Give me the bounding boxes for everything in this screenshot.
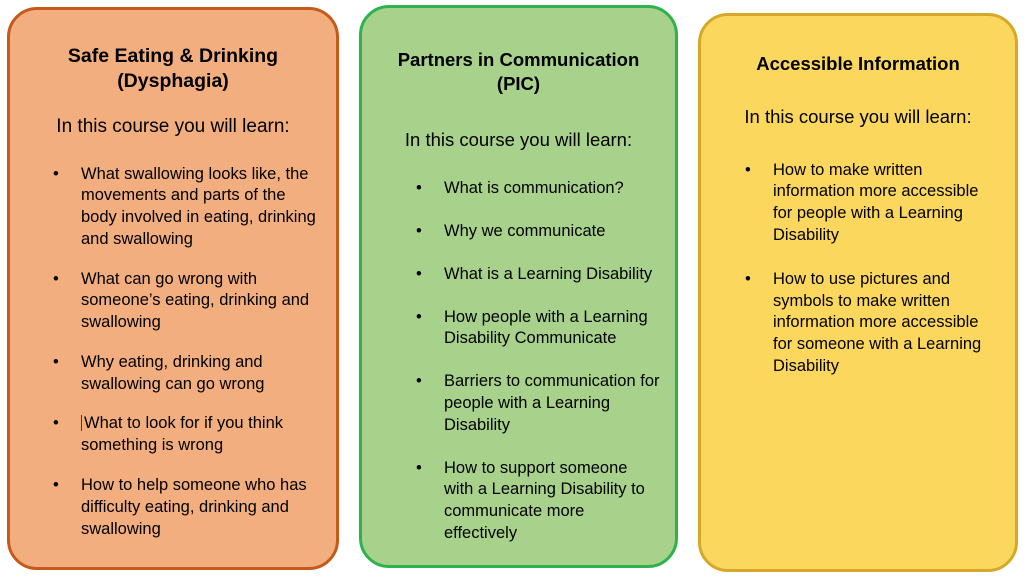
bullet-dot-icon: •: [416, 458, 422, 480]
card-intro-pic: In this course you will learn:: [362, 95, 675, 152]
list-item: • What is communication?: [416, 178, 661, 200]
list-item: • Why we communicate: [416, 221, 661, 243]
list-item-with-caret: • What to look for if you think somethin…: [53, 413, 316, 457]
list-item-text-value: What to look for if you think something …: [81, 414, 283, 454]
list-item-text: How to help someone who has difficulty e…: [81, 475, 316, 540]
card-title-line1: Accessible Information: [756, 53, 960, 74]
bullet-dot-icon: •: [53, 164, 59, 186]
card-bullet-list-pic: • What is communication? • Why we commun…: [362, 152, 675, 544]
list-item-text: What is communication?: [444, 178, 661, 200]
text-cursor-caret: [81, 415, 82, 431]
bullet-dot-icon: •: [416, 178, 422, 200]
list-item: • How people with a Learning Disability …: [416, 307, 661, 351]
bullet-dot-icon: •: [416, 307, 422, 329]
bullet-dot-icon: •: [53, 352, 59, 374]
card-title-line2: (PIC): [497, 73, 540, 94]
list-item: • What can go wrong with someone’s eatin…: [53, 269, 316, 334]
card-title-line2: (Dysphagia): [117, 70, 229, 92]
course-card-dysphagia: Safe Eating & Drinking (Dysphagia) In th…: [7, 7, 339, 570]
card-bullet-list-accessible-information: • How to make written information more a…: [701, 129, 1015, 378]
bullet-dot-icon: •: [745, 160, 751, 182]
bullet-dot-icon: •: [53, 269, 59, 291]
course-card-accessible-information: Accessible Information In this course yo…: [698, 13, 1018, 572]
list-item-text: What swallowing looks like, the movement…: [81, 164, 316, 251]
list-item-text: How people with a Learning Disability Co…: [444, 307, 661, 351]
card-title-line1: Safe Eating & Drinking: [68, 45, 278, 67]
list-item-text: How to use pictures and symbols to make …: [773, 269, 993, 378]
list-item: • How to use pictures and symbols to mak…: [745, 269, 993, 378]
list-item-text: What can go wrong with someone’s eating,…: [81, 269, 316, 334]
card-bullet-list-dysphagia: • What swallowing looks like, the moveme…: [10, 140, 336, 541]
card-title-line1: Partners in Communication: [398, 49, 640, 70]
bullet-dot-icon: •: [416, 264, 422, 286]
card-title-pic: Partners in Communication (PIC): [362, 8, 675, 95]
bullet-dot-icon: •: [745, 269, 751, 291]
list-item: • Barriers to communication for people w…: [416, 371, 661, 436]
list-item-text: What is a Learning Disability: [444, 264, 661, 286]
bullet-dot-icon: •: [53, 475, 59, 497]
list-item-text: Why we communicate: [444, 221, 661, 243]
card-title-accessible-information: Accessible Information: [701, 16, 1015, 76]
list-item: • Why eating, drinking and swallowing ca…: [53, 352, 316, 396]
course-cards-board: Safe Eating & Drinking (Dysphagia) In th…: [0, 0, 1024, 583]
list-item: • What swallowing looks like, the moveme…: [53, 164, 316, 251]
list-item: • How to make written information more a…: [745, 160, 993, 247]
list-item-text: How to support someone with a Learning D…: [444, 458, 661, 545]
course-card-pic: Partners in Communication (PIC) In this …: [359, 5, 678, 568]
list-item-text: How to make written information more acc…: [773, 160, 993, 247]
card-intro-accessible-information: In this course you will learn:: [701, 76, 1015, 129]
list-item-text: What to look for if you think something …: [81, 413, 316, 457]
list-item: • How to support someone with a Learning…: [416, 458, 661, 545]
list-item-text: Barriers to communication for people wit…: [444, 371, 661, 436]
list-item: • What is a Learning Disability: [416, 264, 661, 286]
card-intro-dysphagia: In this course you will learn:: [10, 94, 336, 140]
bullet-dot-icon: •: [416, 221, 422, 243]
list-item-text: Why eating, drinking and swallowing can …: [81, 352, 316, 396]
list-item: • How to help someone who has difficulty…: [53, 475, 316, 540]
bullet-dot-icon: •: [416, 371, 422, 393]
card-title-dysphagia: Safe Eating & Drinking (Dysphagia): [10, 10, 336, 94]
bullet-dot-icon: •: [53, 413, 59, 435]
